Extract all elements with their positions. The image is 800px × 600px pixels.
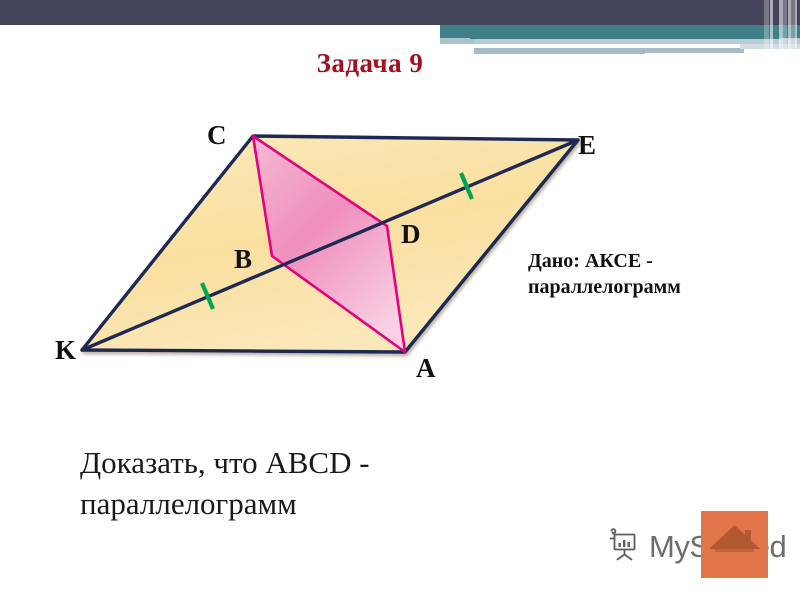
given-statement: Дано: АКСЕ - параллелограмм	[528, 249, 790, 300]
brand-my: My	[649, 529, 689, 564]
vertex-label-e: E	[578, 132, 596, 159]
presentation-chart-icon	[608, 528, 644, 564]
prove-statement: Доказать, что ABCD - параллелограмм	[80, 443, 480, 525]
page-title: Задача 9	[0, 48, 740, 79]
slide-canvas: Задача 9 C E D	[0, 0, 800, 600]
vertex-label-d: D	[401, 221, 421, 248]
header-navy-band	[0, 0, 800, 25]
header-vstripe-2	[779, 0, 783, 57]
header-vstripe-pale-2	[783, 0, 787, 57]
header-vstripe-3	[788, 0, 791, 57]
vertex-label-a: A	[416, 355, 436, 382]
vertex-label-k: K	[55, 337, 76, 364]
home-button[interactable]	[701, 511, 768, 578]
home-icon	[701, 511, 768, 578]
geometry-figure	[0, 95, 800, 395]
header-accent-rule-teal	[470, 32, 780, 39]
header-vstripe-4	[795, 0, 797, 57]
vertex-label-c: C	[207, 122, 227, 149]
vertex-label-b: B	[234, 246, 252, 273]
header-vstripe-pale-1	[764, 0, 769, 57]
header-vstripe-1	[770, 0, 773, 57]
